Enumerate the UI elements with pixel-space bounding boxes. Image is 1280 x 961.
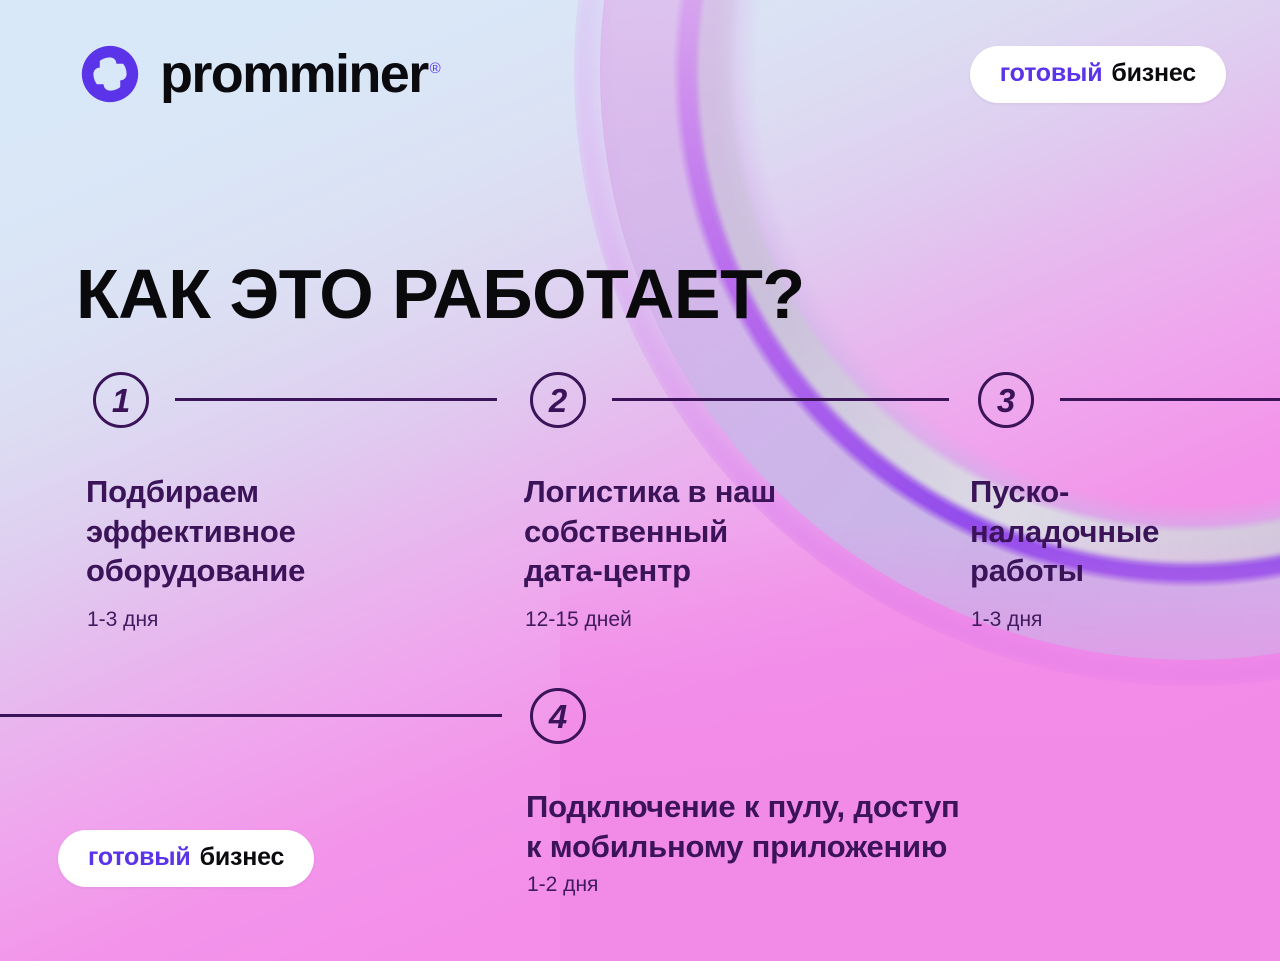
step-4-duration: 1-2 дня xyxy=(527,874,598,895)
step-2-number-badge: 2 xyxy=(530,372,586,428)
logo-wordmark-text: promminer xyxy=(160,44,428,104)
badge-ready-business-bottom[interactable]: готовый бизнес xyxy=(58,830,314,887)
page-title: КАК ЭТО РАБОТАЕТ? xyxy=(76,259,805,329)
step-3-duration: 1-3 дня xyxy=(971,609,1042,630)
logo-wordmark: promminer® xyxy=(160,47,441,101)
ring-halo-band xyxy=(494,0,1280,766)
badge-bottom-accent-text: готовый xyxy=(88,843,191,872)
step-4-title: Подключение к пулу, доступ к мобильному … xyxy=(526,787,1166,866)
step-1-number-badge: 1 xyxy=(93,372,149,428)
step-2-title: Логистика в наш собственный дата-центр xyxy=(524,472,944,591)
ring-outer-silver-band xyxy=(524,0,1280,736)
step-3-number-badge: 3 xyxy=(978,372,1034,428)
badge-bottom-main-text: бизнес xyxy=(200,843,285,872)
step-4-number-badge: 4 xyxy=(530,688,586,744)
step-2-connector-line xyxy=(612,398,949,401)
step-1-connector-line xyxy=(175,398,497,401)
promminer-mark-icon xyxy=(78,42,142,106)
step-1-title: Подбираем эффективное оборудование xyxy=(86,472,506,591)
badge-ready-business-top[interactable]: готовый бизнес xyxy=(970,46,1226,103)
step-4-connector-line xyxy=(0,714,502,717)
badge-top-main-text: бизнес xyxy=(1111,59,1196,88)
iridescent-ring xyxy=(524,0,1280,736)
registered-trademark-icon: ® xyxy=(430,60,441,77)
ring-inner-silver-band xyxy=(524,0,1280,736)
infographic-banner: promminer® готовый бизнес КАК ЭТО РАБОТА… xyxy=(0,0,1280,961)
step-3-connector-line xyxy=(1060,398,1280,401)
ring-face-band xyxy=(524,0,1280,736)
ring-inner-violet-line xyxy=(524,0,1280,736)
step-2-duration: 12-15 дней xyxy=(525,609,632,630)
brand-logo[interactable]: promminer® xyxy=(78,42,441,106)
badge-top-accent-text: готовый xyxy=(1000,59,1103,88)
ring-violet-band xyxy=(524,0,1280,736)
step-3-title: Пуско- наладочные работы xyxy=(970,472,1270,591)
step-1-duration: 1-3 дня xyxy=(87,609,158,630)
